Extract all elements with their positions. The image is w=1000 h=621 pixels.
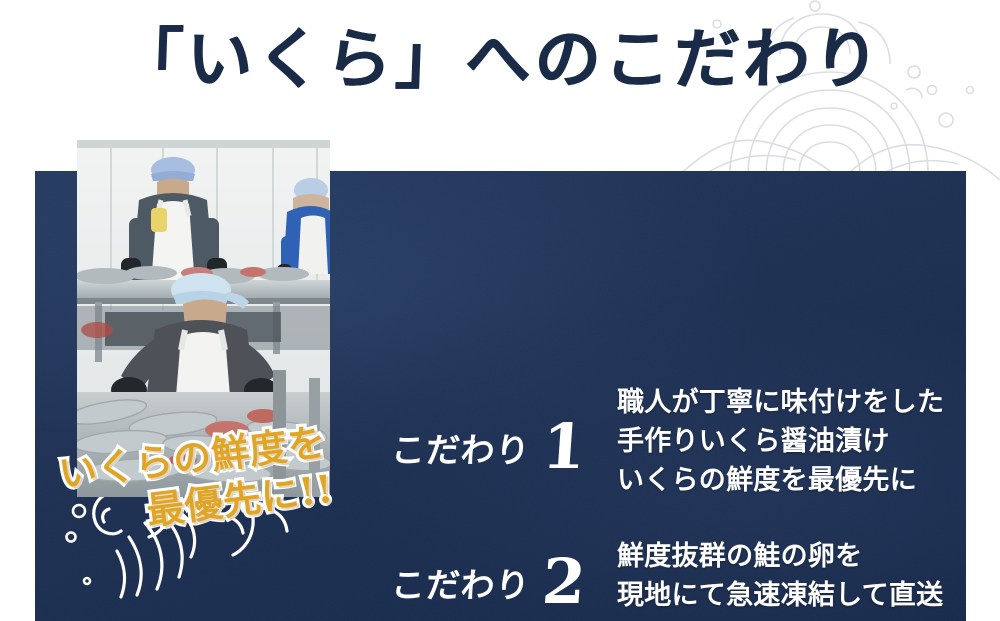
feature-line: いくらの鮮度を最優先に (617, 461, 944, 500)
feature-row-2: こだわり 2 鮮度抜群の鮭の卵を 現地にて急速凍結して直送 (392, 537, 943, 615)
feature-description-1: 職人が丁寧に味付けをした 手作りいくら醤油漬け いくらの鮮度を最優先に (617, 383, 944, 500)
feature-number-1: 1 (540, 416, 588, 478)
page-title: 「いくら」へのこだわり (0, 26, 1000, 92)
feature-line: 現地にて急速凍結して直送 (617, 576, 943, 615)
feature-label-1: こだわり 1 (390, 410, 619, 472)
feature-row-1: こだわり 1 職人が丁寧に味付けをした 手作りいくら醤油漬け いくらの鮮度を最優… (392, 383, 944, 500)
feature-line: 職人が丁寧に味付けをした (617, 383, 944, 422)
feature-label-2: こだわり 2 (390, 545, 619, 607)
feature-description-2: 鮮度抜群の鮭の卵を 現地にて急速凍結して直送 (617, 537, 943, 615)
feature-label-text-1: こだわり (390, 434, 531, 468)
feature-line: 鮮度抜群の鮭の卵を (617, 537, 943, 576)
feature-line: 手作りいくら醤油漬け (617, 422, 944, 461)
promo-banner: 「いくら」へのこだわり (0, 0, 1000, 621)
factory-photo (77, 140, 330, 497)
feature-label-text-2: こだわり (390, 569, 531, 603)
feature-number-2: 2 (540, 551, 588, 613)
